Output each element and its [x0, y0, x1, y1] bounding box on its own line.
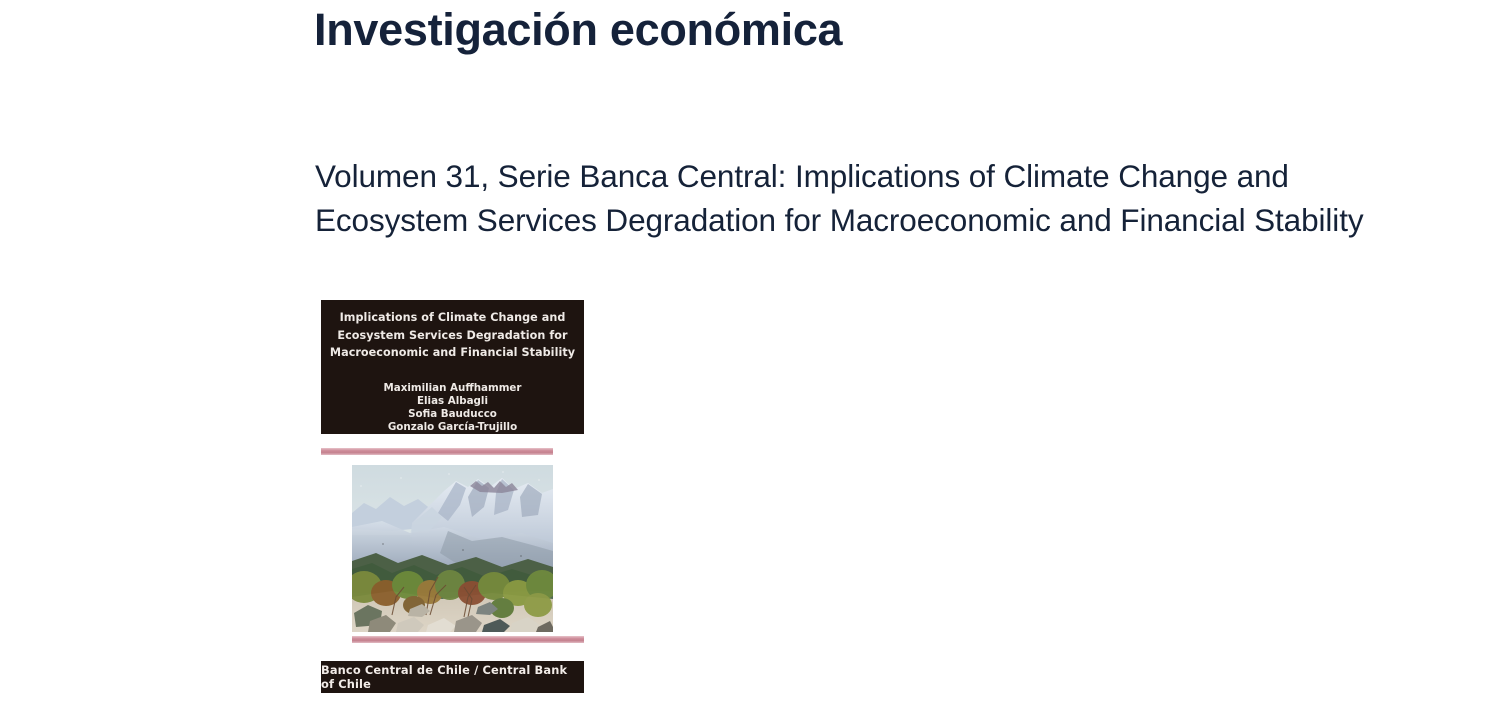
- cover-title-line-3: Macroeconomic and Financial Stability: [329, 344, 576, 362]
- cover-rule-top: [321, 448, 553, 455]
- cover-title-block: Implications of Climate Change and Ecosy…: [321, 300, 584, 434]
- cover-editor-name: Gonzalo García-Trujillo: [321, 421, 584, 434]
- cover-publisher: Banco Central de Chile / Central Bank of…: [321, 661, 584, 693]
- cover-editor-name: Elias Albagli: [321, 395, 584, 408]
- cover-title-line-1: Implications of Climate Change and: [329, 309, 576, 327]
- document-page: Investigación económica Volumen 31, Seri…: [0, 0, 1486, 712]
- page-title: Investigación económica: [314, 2, 842, 58]
- cover-editor-name: Sofia Bauducco: [321, 408, 584, 421]
- mountain-painting-illustration: [352, 465, 553, 632]
- cover-rule-bottom: [352, 636, 584, 643]
- volume-heading: Volumen 31, Serie Banca Central: Implica…: [315, 155, 1407, 242]
- cover-artwork: [352, 465, 553, 632]
- cover-editor-list: Maximilian Auffhammer Elias Albagli Sofi…: [321, 382, 584, 435]
- book-cover-image[interactable]: Implications of Climate Change and Ecosy…: [321, 300, 584, 434]
- cover-editor-name: Maximilian Auffhammer: [321, 382, 584, 395]
- cover-book-title: Implications of Climate Change and Ecosy…: [321, 309, 584, 362]
- cover-title-line-2: Ecosystem Services Degradation for: [329, 327, 576, 345]
